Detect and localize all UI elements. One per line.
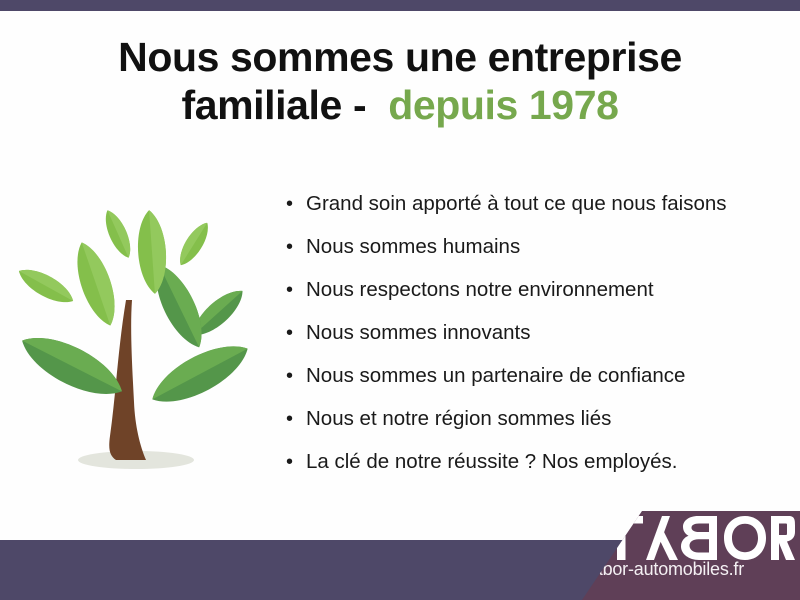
leaf-mid-left-large	[68, 238, 124, 331]
bullet-icon: •	[286, 234, 306, 260]
title-line-2-accent: depuis 1978	[388, 82, 618, 128]
title-line-2-plain: familiale -	[181, 82, 388, 128]
list-item-label: Nous respectons notre environnement	[306, 277, 654, 303]
page-title: Nous sommes une entreprise familiale - d…	[0, 33, 800, 130]
tabor-wordmark-icon	[599, 516, 795, 560]
top-accent-bar	[0, 0, 800, 11]
list-item: • Nous sommes innovants	[286, 320, 756, 363]
list-item-label: Nous sommes humains	[306, 234, 520, 260]
leaf-lower-left	[14, 324, 130, 408]
list-item-label: Grand soin apporté à tout ce que nous fa…	[306, 191, 727, 217]
bullet-icon: •	[286, 406, 306, 432]
list-item-label: Nous et notre région sommes liés	[306, 406, 611, 432]
list-item-label: Nous sommes innovants	[306, 320, 530, 346]
list-item: • Nous et notre région sommes liés	[286, 406, 756, 449]
bullet-icon: •	[286, 191, 306, 217]
list-item: • Grand soin apporté à tout ce que nous …	[286, 191, 756, 234]
bullet-icon: •	[286, 320, 306, 346]
list-item: • Nous sommes un partenaire de confiance	[286, 363, 756, 406]
leaf-far-left	[14, 262, 78, 310]
slide-canvas: Nous sommes une entreprise familiale - d…	[0, 0, 800, 600]
title-line-1: Nous sommes une entreprise	[0, 33, 800, 81]
leaf-top-left	[100, 207, 137, 261]
list-item: • Nous respectons notre environnement	[286, 277, 756, 320]
list-item: • Nous sommes humains	[286, 234, 756, 277]
title-line-2: familiale - depuis 1978	[0, 81, 800, 129]
bullet-icon: •	[286, 277, 306, 303]
list-item-label: La clé de notre réussite ? Nos employés.	[306, 449, 677, 475]
leaf-top-right	[174, 218, 214, 269]
bullet-icon: •	[286, 449, 306, 475]
leaf-lower-right	[144, 333, 256, 415]
list-item-label: Nous sommes un partenaire de confiance	[306, 363, 685, 389]
bullet-list: • Grand soin apporté à tout ce que nous …	[286, 191, 756, 492]
tree-illustration	[14, 188, 270, 488]
list-item: • La clé de notre réussite ? Nos employé…	[286, 449, 756, 492]
bullet-icon: •	[286, 363, 306, 389]
